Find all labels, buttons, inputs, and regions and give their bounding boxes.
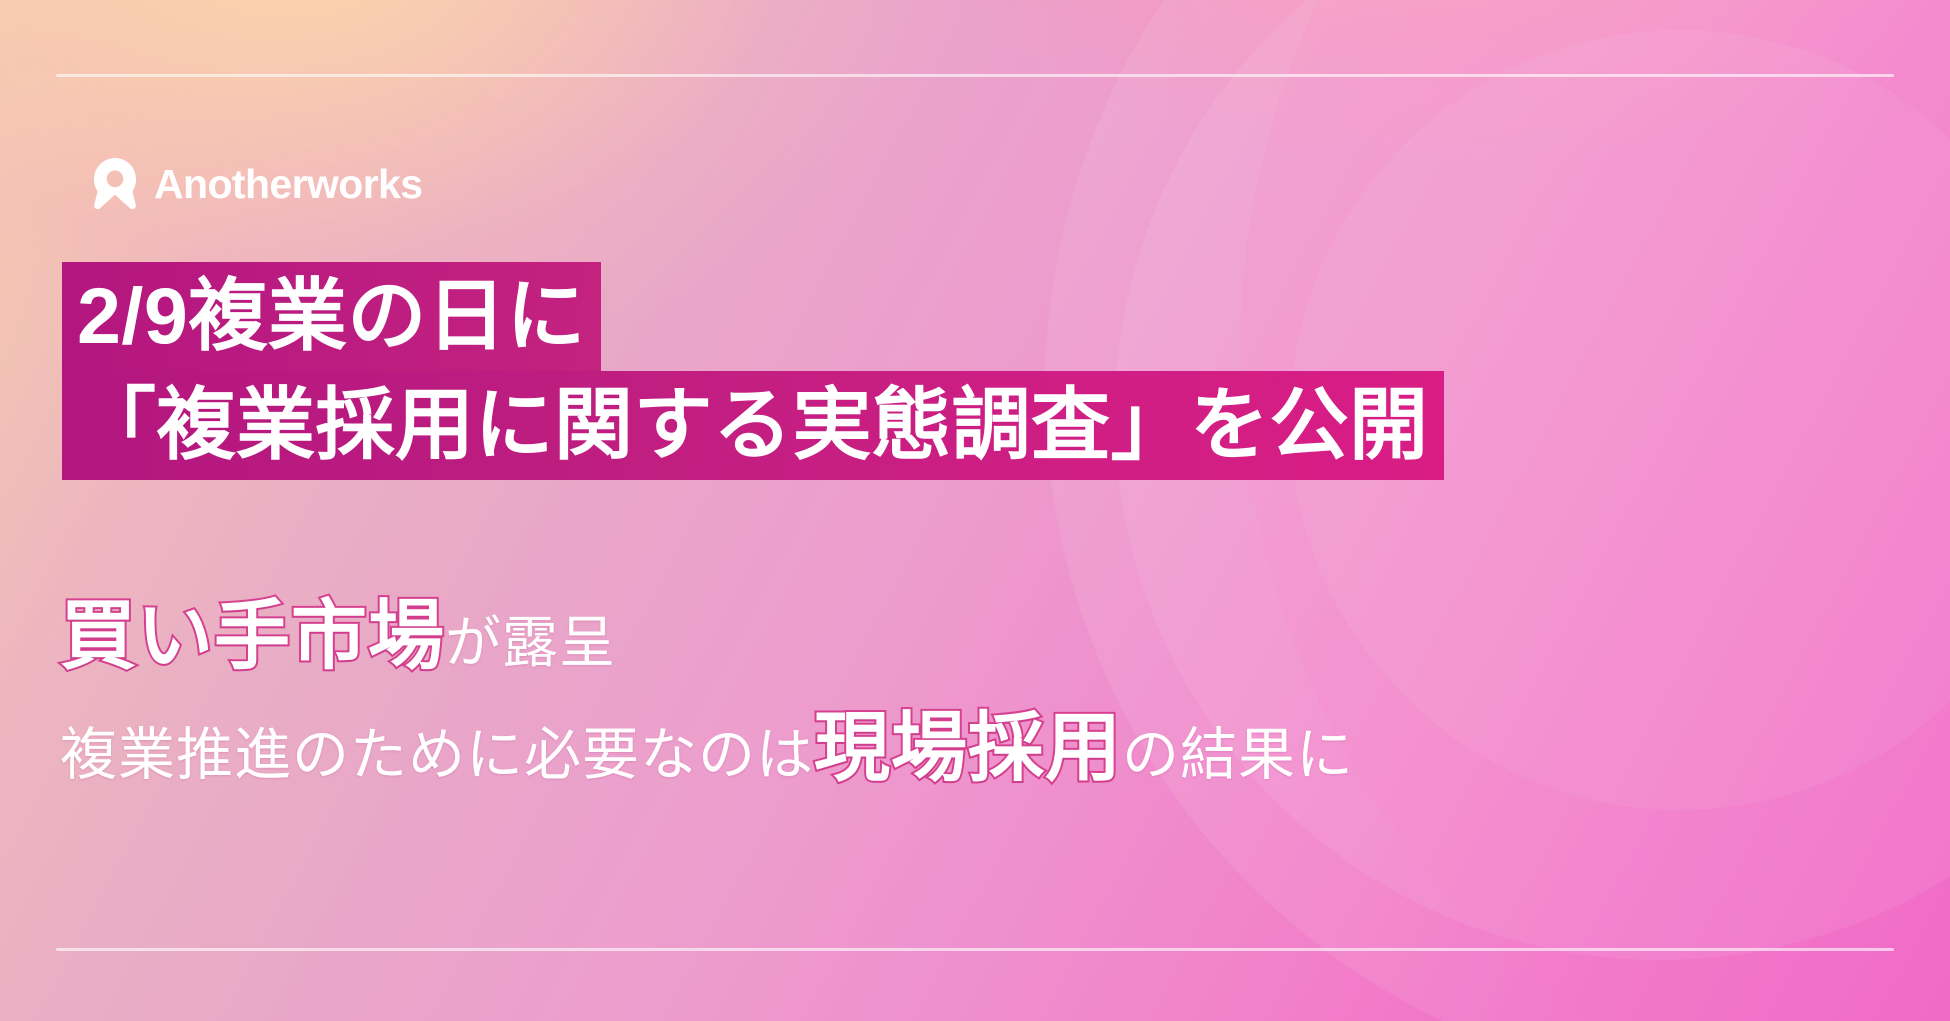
brand-logo: Anotherworks	[92, 158, 422, 210]
subtitle-keyword-1: 買い手市場	[60, 594, 445, 679]
headline-line-1: 2/9複業の日に	[62, 262, 601, 371]
divider-bottom	[56, 948, 1894, 951]
headline-line-2: 「複業採用に関する実態調査」を公開	[62, 371, 1444, 480]
subtitle-tail-2: の結果に	[1122, 723, 1354, 787]
subtitle-keyword-2: 現場採用	[814, 706, 1122, 791]
divider-top	[56, 74, 1894, 77]
headline: 2/9複業の日に 「複業採用に関する実態調査」を公開	[62, 262, 1444, 480]
subtitle-tail-1: が露呈	[445, 611, 616, 674]
subtitle-line-1: 買い手市場が露呈	[60, 592, 1900, 682]
promo-banner: Anotherworks 2/9複業の日に 「複業採用に関する実態調査」を公開 …	[0, 0, 1950, 1021]
anotherworks-pin-icon	[92, 158, 138, 210]
subtitle-line-2: 複業推進のために必要なのは現場採用の結果に	[60, 704, 1900, 794]
brand-name: Anotherworks	[154, 164, 422, 205]
subtitle-lead-2: 複業推進のために必要なのは	[60, 723, 814, 787]
subtitle: 買い手市場が露呈 複業推進のために必要なのは現場採用の結果に	[60, 592, 1900, 793]
